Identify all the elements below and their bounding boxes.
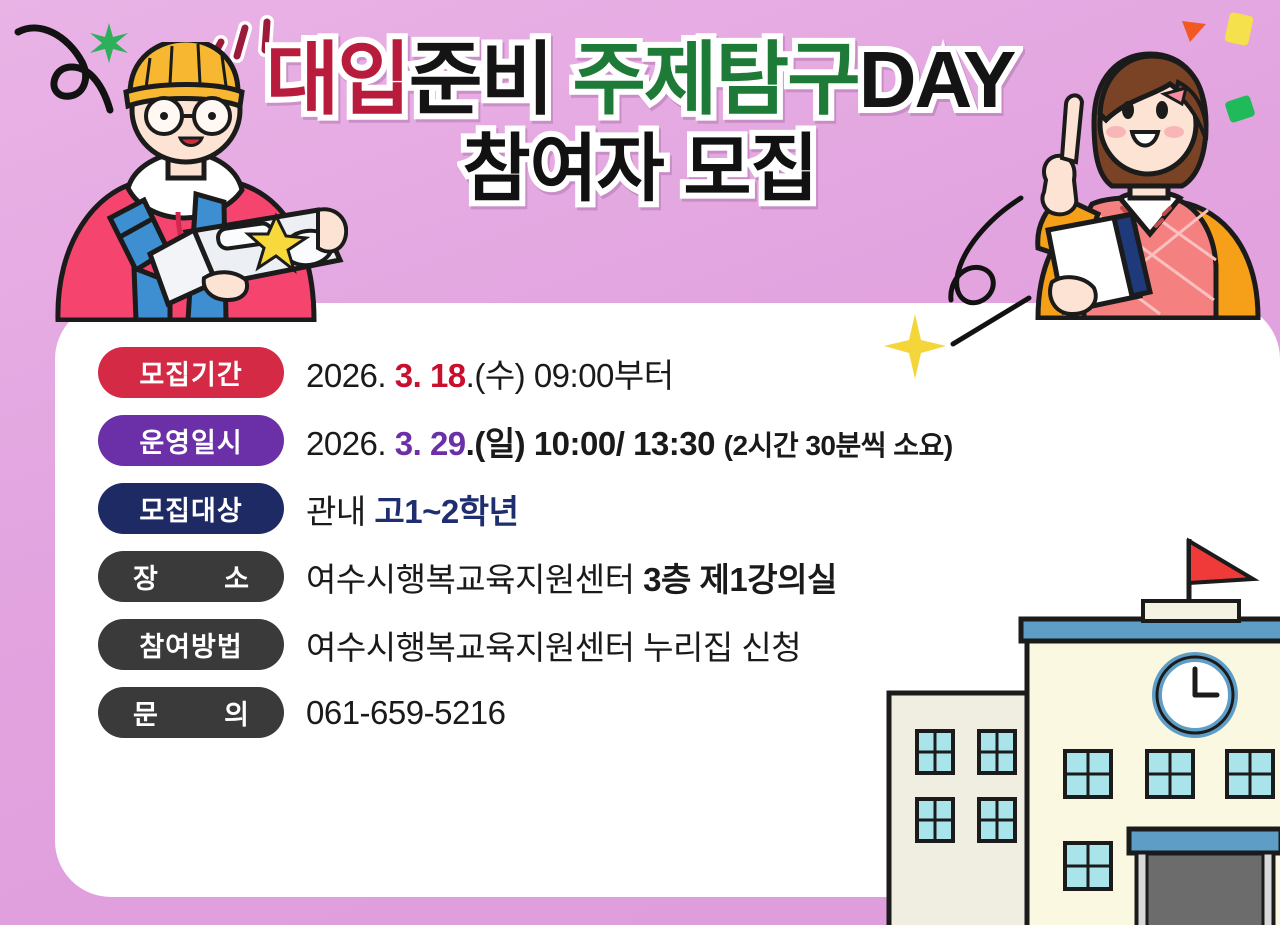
info-list: 모집기간 2026. 3. 18.(수) 09:00부터 운영일시 2026. … (98, 345, 953, 740)
value-contact: 061-659-5216 (306, 694, 506, 732)
value-method: 여수시행복교육지원센터 누리집 신청 (306, 621, 801, 669)
headline-part-black-1: 준비 (409, 35, 552, 124)
headline-part-day: DAY (859, 35, 1015, 124)
badge-contact: 문의 (98, 687, 284, 738)
school-building-with-flag-and-clock (885, 533, 1280, 925)
student-boy-with-laptop (18, 42, 348, 327)
badge-location: 장소 (98, 551, 284, 602)
value-prefix: 2026. (306, 425, 395, 462)
badge-target: 모집대상 (98, 483, 284, 534)
value-recruit-period: 2026. 3. 18.(수) 09:00부터 (306, 349, 674, 397)
info-row-location: 장소 여수시행복교육지원센터 3층 제1강의실 (98, 549, 953, 604)
info-row-schedule: 운영일시 2026. 3. 29.(일) 10:00/ 13:30 (2시간 3… (98, 413, 953, 468)
info-row-target: 모집대상 관내 고1~2학년 (98, 481, 953, 536)
info-row-method: 참여방법 여수시행복교육지원센터 누리집 신청 (98, 617, 953, 672)
value-location: 여수시행복교육지원센터 3층 제1강의실 (306, 553, 837, 601)
poster-background: 대입준비 주제탐구DAY 참여자 모집 모집기간 2026. 3. 18.(수)… (0, 0, 1280, 925)
headline-part-green: 주제탐구 (552, 35, 859, 124)
value-note: (2시간 30분씩 소요) (724, 430, 953, 461)
orange-triangle-confetti (1180, 18, 1208, 49)
value-prefix: 2026. (306, 357, 395, 394)
value-schedule: 2026. 3. 29.(일) 10:00/ 13:30 (2시간 30분씩 소… (306, 417, 953, 465)
value-highlight: 고1~2학년 (374, 493, 518, 530)
badge-schedule: 운영일시 (98, 415, 284, 466)
value-prefix: 여수시행복교육지원센터 (306, 561, 643, 598)
value-target: 관내 고1~2학년 (306, 485, 518, 533)
info-row-recruit-period: 모집기간 2026. 3. 18.(수) 09:00부터 (98, 345, 953, 400)
value-prefix: 관내 (306, 493, 374, 530)
badge-method: 참여방법 (98, 619, 284, 670)
info-row-contact: 문의 061-659-5216 (98, 685, 953, 740)
badge-recruit-period: 모집기간 (98, 347, 284, 398)
value-highlight: 3. 29 (395, 425, 466, 462)
student-girl-pointing-with-book (1010, 48, 1270, 325)
value-suffix: .(수) 09:00부터 (466, 357, 674, 394)
value-highlight: 3층 제1강의실 (643, 561, 837, 598)
value-suffix: .(일) 10:00/ 13:30 (466, 425, 715, 462)
value-highlight: 3. 18 (395, 357, 466, 394)
